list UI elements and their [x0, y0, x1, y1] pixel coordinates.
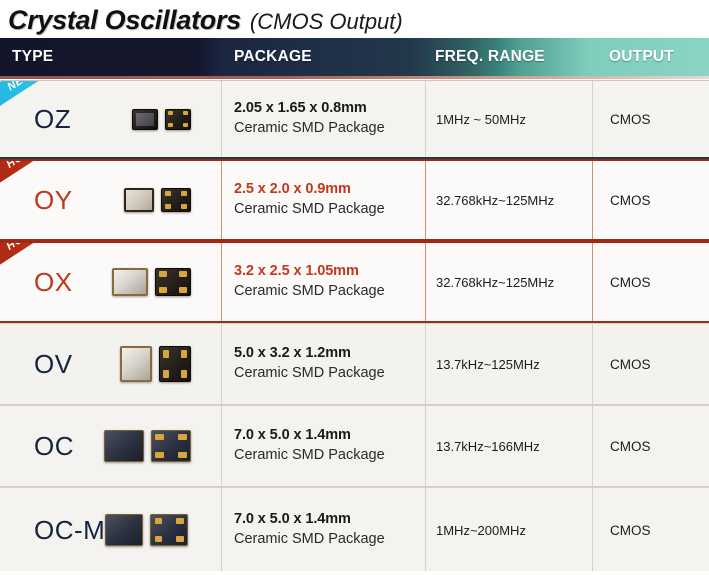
- chip-image-bottom: [155, 268, 191, 296]
- cell-type: OC: [0, 406, 222, 486]
- header-underline-divider: [0, 76, 709, 79]
- output-value: CMOS: [610, 523, 651, 538]
- cell-package: 7.0 x 5.0 x 1.4mm Ceramic SMD Package: [222, 488, 425, 572]
- chip-image-bottom: [161, 188, 191, 212]
- cell-output: CMOS: [592, 406, 709, 486]
- cell-freq-range: 13.7kHz~125MHz: [425, 324, 592, 404]
- cell-package: 2.05 x 1.65 x 0.8mm Ceramic SMD Package: [222, 81, 425, 157]
- cell-package: 5.0 x 3.2 x 1.2mm Ceramic SMD Package: [222, 324, 425, 404]
- type-label: OX: [0, 267, 73, 298]
- product-spec-table-page: Crystal Oscillators (CMOS Output) TYPE P…: [0, 0, 709, 575]
- package-dimension: 5.0 x 3.2 x 1.2mm: [234, 344, 385, 364]
- chip-photo-group: [112, 268, 191, 296]
- package-description: Ceramic SMD Package: [234, 200, 385, 220]
- table-row[interactable]: HOT OX 3.2 x 2.5 x 1.05mm Ceramic SMD Pa…: [0, 241, 709, 323]
- cell-output: CMOS: [592, 81, 709, 157]
- type-label: OZ: [0, 104, 71, 135]
- page-title: Crystal Oscillators (CMOS Output): [0, 0, 709, 36]
- cell-type: OC-M: [0, 488, 222, 572]
- chip-image-top: [104, 430, 144, 462]
- column-header-freq-range: FREQ. RANGE: [425, 38, 592, 76]
- output-value: CMOS: [610, 112, 651, 127]
- chip-image-bottom: [151, 430, 191, 462]
- chip-image-top: [132, 109, 158, 130]
- package-description: Ceramic SMD Package: [234, 530, 385, 550]
- table-body: NEW OZ 2.05 x 1.65 x 0.8mm Ceramic SMD P…: [0, 80, 709, 573]
- chip-image-top: [112, 268, 148, 296]
- page-bottom-edge: [0, 571, 709, 575]
- package-description: Ceramic SMD Package: [234, 364, 385, 384]
- type-label: OY: [0, 185, 73, 216]
- table-header-row: TYPE PACKAGE FREQ. RANGE OUTPUT: [0, 38, 709, 76]
- package-dimension: 2.05 x 1.65 x 0.8mm: [234, 99, 385, 119]
- cell-output: CMOS: [592, 243, 709, 321]
- freq-range-value: 1MHz ~ 50MHz: [436, 112, 526, 127]
- chip-image-top: [120, 346, 152, 382]
- table-row[interactable]: NEW OZ 2.05 x 1.65 x 0.8mm Ceramic SMD P…: [0, 80, 709, 159]
- package-dimension: 7.0 x 5.0 x 1.4mm: [234, 510, 385, 530]
- table-row[interactable]: OV 5.0 x 3.2 x 1.2mm Ceramic SMD Package…: [0, 323, 709, 405]
- cell-freq-range: 32.768kHz~125MHz: [425, 161, 592, 239]
- chip-image-top: [124, 188, 154, 212]
- chip-photo-group: [120, 346, 191, 382]
- cell-package: 7.0 x 5.0 x 1.4mm Ceramic SMD Package: [222, 406, 425, 486]
- chip-image-bottom: [165, 109, 191, 130]
- title-subtitle-text: (CMOS Output): [250, 11, 403, 34]
- cell-package: 2.5 x 2.0 x 0.9mm Ceramic SMD Package: [222, 161, 425, 239]
- cell-type: OZ: [0, 81, 222, 157]
- package-description: Ceramic SMD Package: [234, 119, 385, 139]
- chip-photo-group: [105, 514, 188, 546]
- cell-output: CMOS: [592, 324, 709, 404]
- chip-photo-group: [124, 188, 191, 212]
- chip-image-bottom: [150, 514, 188, 546]
- output-value: CMOS: [610, 439, 651, 454]
- chip-image-top: [105, 514, 143, 546]
- freq-range-value: 32.768kHz~125MHz: [436, 275, 554, 290]
- freq-range-value: 32.768kHz~125MHz: [436, 193, 554, 208]
- cell-freq-range: 13.7kHz~166MHz: [425, 406, 592, 486]
- chip-photo-group: [132, 109, 191, 130]
- cell-type: OY: [0, 161, 222, 239]
- cell-output: CMOS: [592, 488, 709, 572]
- cell-type: OX: [0, 243, 222, 321]
- table-row[interactable]: HOT OY 2.5 x 2.0 x 0.9mm Ceramic SMD Pac…: [0, 159, 709, 241]
- title-main-text: Crystal Oscillators: [8, 7, 241, 34]
- package-dimension: 3.2 x 2.5 x 1.05mm: [234, 262, 385, 282]
- type-label: OV: [0, 349, 73, 380]
- output-value: CMOS: [610, 357, 651, 372]
- column-header-type: TYPE: [0, 38, 222, 76]
- freq-range-value: 1MHz~200MHz: [436, 523, 526, 538]
- cell-type: OV: [0, 324, 222, 404]
- cell-package: 3.2 x 2.5 x 1.05mm Ceramic SMD Package: [222, 243, 425, 321]
- package-dimension: 7.0 x 5.0 x 1.4mm: [234, 426, 385, 446]
- cell-freq-range: 32.768kHz~125MHz: [425, 243, 592, 321]
- type-label: OC-M: [0, 515, 105, 546]
- table-row[interactable]: OC 7.0 x 5.0 x 1.4mm Ceramic SMD Package…: [0, 405, 709, 487]
- chip-image-bottom: [159, 346, 191, 382]
- output-value: CMOS: [610, 193, 651, 208]
- cell-freq-range: 1MHz~200MHz: [425, 488, 592, 572]
- type-label: OC: [0, 431, 74, 462]
- column-header-package: PACKAGE: [222, 38, 425, 76]
- output-value: CMOS: [610, 275, 651, 290]
- package-description: Ceramic SMD Package: [234, 446, 385, 466]
- table-row[interactable]: OC-M 7.0 x 5.0 x 1.4mm Ceramic SMD Packa…: [0, 487, 709, 573]
- column-header-output: OUTPUT: [592, 38, 709, 76]
- chip-photo-group: [104, 430, 191, 462]
- package-description: Ceramic SMD Package: [234, 282, 385, 302]
- freq-range-value: 13.7kHz~166MHz: [436, 439, 540, 454]
- cell-output: CMOS: [592, 161, 709, 239]
- freq-range-value: 13.7kHz~125MHz: [436, 357, 540, 372]
- cell-freq-range: 1MHz ~ 50MHz: [425, 81, 592, 157]
- package-dimension: 2.5 x 2.0 x 0.9mm: [234, 180, 385, 200]
